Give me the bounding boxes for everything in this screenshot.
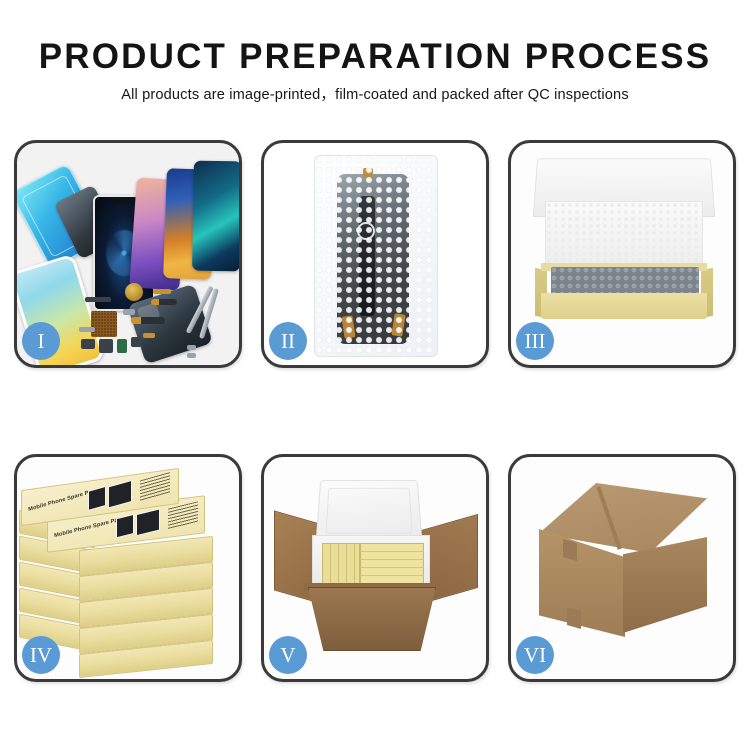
step-badge-1: I: [22, 322, 60, 360]
step-badge-4: IV: [22, 636, 60, 674]
bubble-wrap-bag-icon: [314, 155, 438, 357]
step-6-image: VI: [511, 457, 733, 679]
screw-tray-icon: [91, 311, 117, 337]
packing-tape-upper-icon: [563, 539, 577, 561]
yellow-boxes-horizontal-icon: [360, 543, 424, 587]
page-subtitle: All products are image-printed，film-coat…: [0, 85, 750, 105]
process-step-5: V: [261, 454, 489, 682]
step-3-image: III: [511, 143, 733, 365]
step-badge-2: II: [269, 322, 307, 360]
carton-right-face-icon: [623, 537, 707, 633]
yellow-box-front-icon: [541, 293, 707, 319]
process-step-grid: I II: [14, 140, 736, 682]
gold-contact-icon: [153, 289, 171, 294]
product-preparation-infographic: PRODUCT PREPARATION PROCESS All products…: [0, 0, 750, 750]
process-step-6: VI: [508, 454, 736, 682]
flex-cable-2-icon: [131, 317, 165, 324]
coil-component-icon: [125, 283, 143, 301]
teal-gradient-phone-icon: [192, 161, 239, 272]
speaker-component-icon: [85, 297, 111, 302]
spec-lines-icon: [168, 501, 198, 530]
product-window-icon: [116, 514, 134, 538]
sim-tray-icon: [117, 339, 127, 353]
step-badge-6: VI: [516, 636, 554, 674]
foam-lid-open-icon: [316, 480, 423, 543]
screw-icon: [187, 345, 196, 350]
flex-cable-icon: [151, 299, 177, 305]
vibrator-icon: [99, 339, 113, 353]
step-1-image: I: [17, 143, 239, 365]
step-4-image: Mobile Phone Spare Parts Mobile Phone Sp…: [17, 457, 239, 679]
process-step-2: II: [261, 140, 489, 368]
white-foam-sheet-icon: [545, 201, 703, 271]
carton-front-icon: [308, 587, 436, 651]
page-title: PRODUCT PREPARATION PROCESS: [0, 36, 750, 78]
step-5-image: V: [264, 457, 486, 679]
bracket-icon: [123, 309, 135, 315]
yellow-boxes-vertical-icon: [322, 543, 360, 587]
step-2-image: II: [264, 143, 486, 365]
process-step-1: I: [14, 140, 242, 368]
bubble-texture-overlay: [315, 156, 437, 356]
phone-notch-icon: [114, 199, 134, 203]
process-step-3: III: [508, 140, 736, 368]
product-window-icon: [136, 508, 160, 536]
screw-2-icon: [187, 353, 196, 358]
spec-lines-icon: [140, 472, 170, 502]
gray-bubble-wrap-icon: [551, 267, 699, 295]
product-window-icon: [88, 486, 106, 511]
gold-strip-icon: [143, 333, 155, 338]
step-badge-5: V: [269, 636, 307, 674]
camera-module-icon: [81, 339, 95, 349]
process-step-4: Mobile Phone Spare Parts Mobile Phone Sp…: [14, 454, 242, 682]
metal-strip-icon: [79, 327, 95, 332]
packing-tape-lower-icon: [567, 607, 581, 629]
product-window-icon: [108, 480, 132, 509]
header: PRODUCT PREPARATION PROCESS All products…: [0, 36, 750, 105]
button-component-icon: [131, 337, 141, 347]
step-badge-3: III: [516, 322, 554, 360]
